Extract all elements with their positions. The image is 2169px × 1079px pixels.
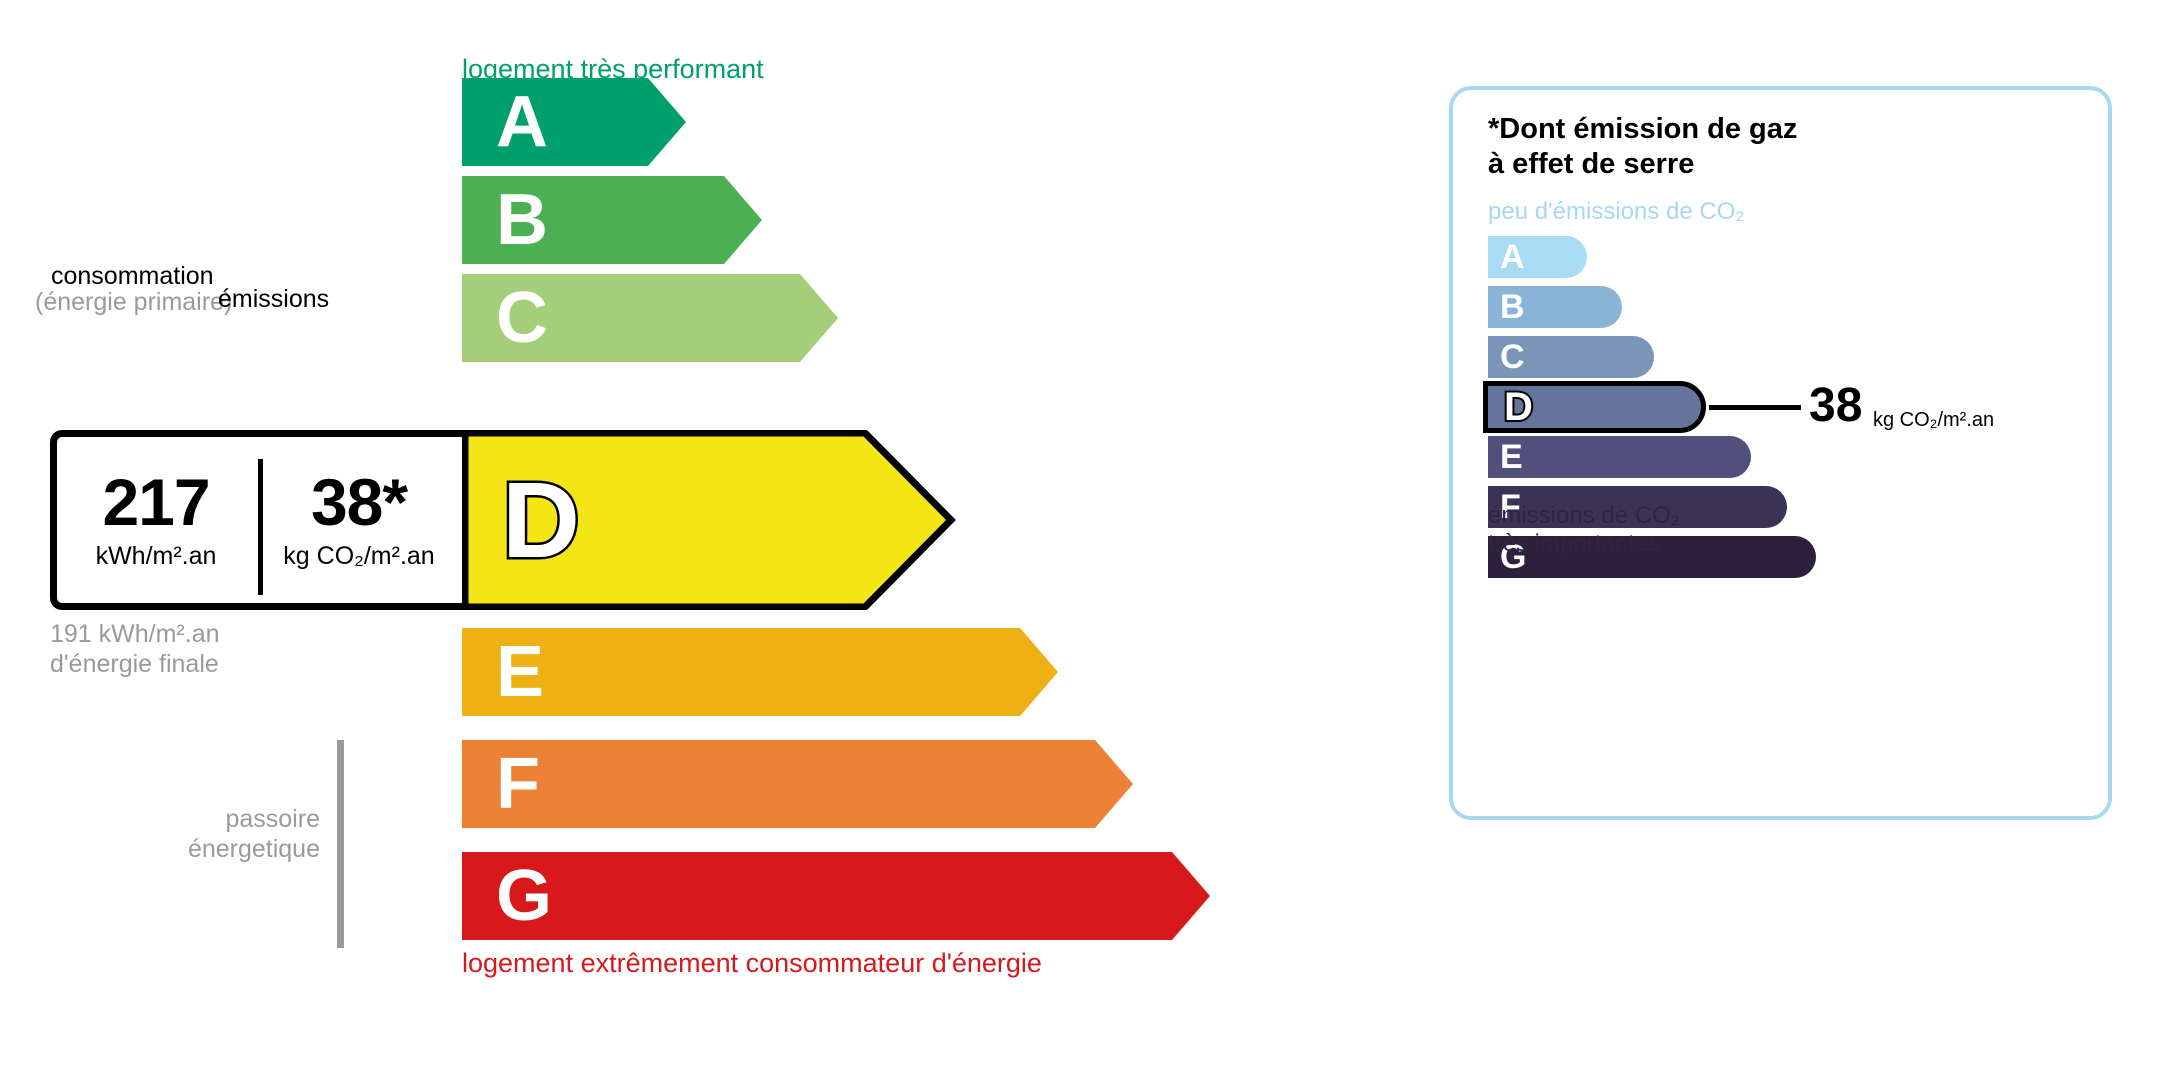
co2-bar-d-selected[interactable]: D	[1483, 381, 1706, 433]
co2-bar-e[interactable]: E	[1488, 436, 1751, 478]
label-consommation: consommation	[51, 262, 214, 291]
value-box: 217 kWh/m².an 38* kg CO₂/m².an	[50, 430, 462, 610]
energy-bar-g-shape	[462, 852, 1210, 940]
energy-bar-d-shape	[462, 430, 956, 610]
energy-bar-a[interactable]: A	[462, 78, 686, 166]
co2-value-connector	[1709, 405, 1801, 410]
emission-value: 38*	[311, 469, 407, 535]
co2-bar-a-letter: A	[1500, 240, 1525, 274]
consumption-value: 217	[102, 469, 209, 535]
co2-bar-c[interactable]: C	[1488, 336, 1654, 378]
emission-unit: kg CO₂/m².an	[283, 542, 434, 571]
energy-performance-scale: logement très performant A B C D E	[0, 0, 1400, 1079]
co2-value: 38	[1809, 382, 1862, 430]
energy-bar-a-shape	[462, 78, 686, 166]
energy-bar-b[interactable]: B	[462, 176, 762, 264]
co2-bottom-caption: émissions de CO₂ très importantes	[1488, 502, 1680, 559]
energy-bar-e[interactable]: E	[462, 628, 1058, 716]
co2-bar-a[interactable]: A	[1488, 236, 1587, 278]
co2-bar-b[interactable]: B	[1488, 286, 1622, 328]
consumption-unit: kWh/m².an	[96, 542, 217, 571]
label-energie-primaire: (énergie primaire)	[35, 288, 232, 317]
energy-bar-c[interactable]: C	[462, 274, 838, 362]
co2-bar-b-letter: B	[1500, 290, 1525, 324]
scale-bottom-caption: logement extrêmement consommateur d'éner…	[462, 948, 1042, 979]
emission-value-cell: 38* kg CO₂/m².an	[263, 437, 455, 603]
co2-value-unit: kg CO₂/m².an	[1873, 410, 1994, 430]
energy-bar-c-shape	[462, 274, 838, 362]
energy-bar-d-selected[interactable]: D	[462, 430, 956, 610]
co2-top-caption: peu d'émissions de CO₂	[1488, 198, 1745, 226]
co2-emissions-panel: *Dont émission de gaz à effet de serre p…	[1449, 86, 2112, 820]
passoire-bracket	[337, 740, 344, 948]
energy-bar-g[interactable]: G	[462, 852, 1210, 940]
energy-bar-f[interactable]: F	[462, 740, 1133, 828]
co2-bar-d-letter: D	[1504, 387, 1533, 427]
co2-bar-c-letter: C	[1500, 340, 1525, 374]
label-emissions: émissions	[218, 285, 329, 314]
co2-panel-title: *Dont émission de gaz à effet de serre	[1488, 112, 1797, 182]
consumption-value-cell: 217 kWh/m².an	[57, 437, 255, 603]
final-energy-note: 191 kWh/m².an d'énergie finale	[50, 620, 220, 679]
energy-bar-f-shape	[462, 740, 1133, 828]
co2-bar-e-letter: E	[1500, 440, 1523, 474]
energy-bar-b-shape	[462, 176, 762, 264]
energy-bar-e-shape	[462, 628, 1058, 716]
passoire-label: passoire énergetique	[120, 805, 320, 864]
